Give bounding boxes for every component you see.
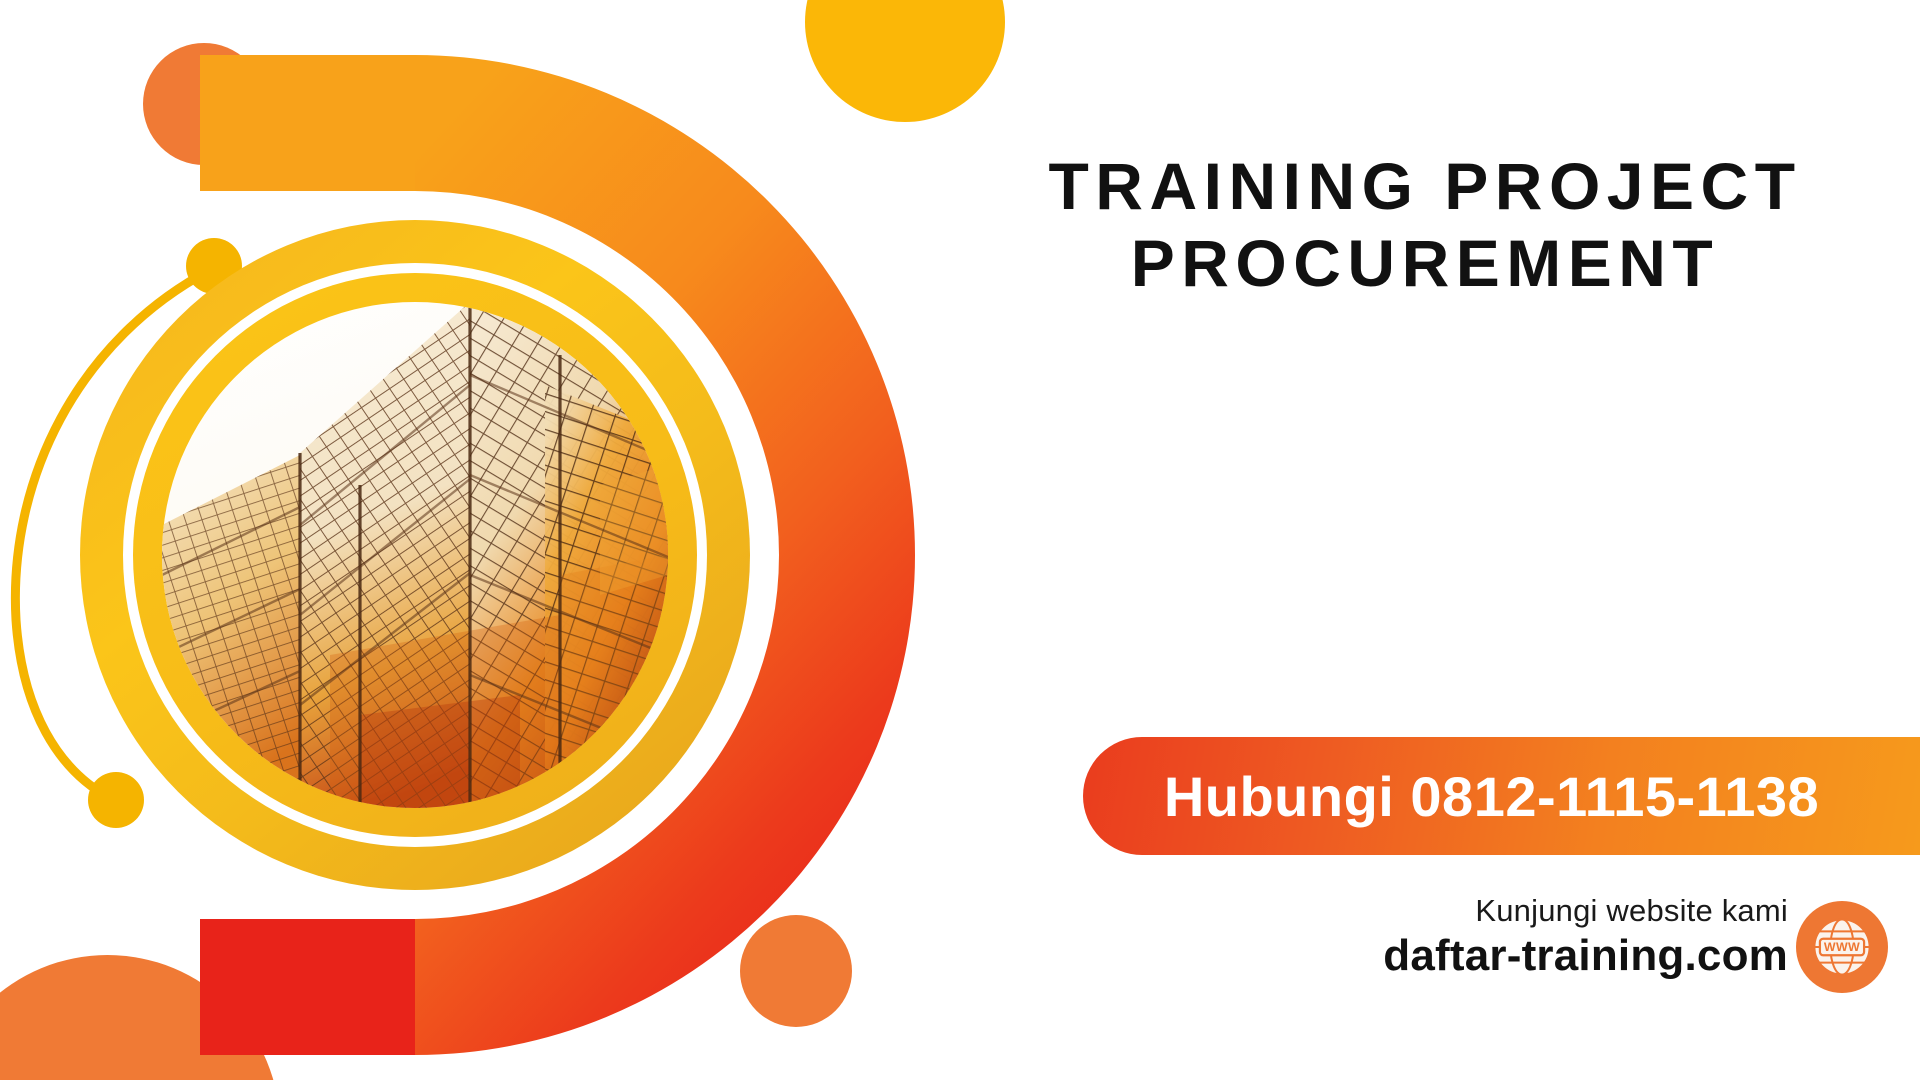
- globe-www-label: WWW: [1824, 940, 1860, 954]
- headline-line-1: TRAINING PROJECT: [930, 148, 1920, 225]
- website-block: Kunjungi website kami daftar-training.co…: [1180, 895, 1920, 1015]
- page-title: TRAINING PROJECT PROCUREMENT: [930, 148, 1920, 302]
- website-domain[interactable]: daftar-training.com: [1383, 932, 1788, 980]
- headline-line-2: PROCUREMENT: [930, 225, 1920, 302]
- contact-cta-button[interactable]: Hubungi 0812-1115-1138: [1083, 737, 1920, 855]
- circular-photo-composition: [0, 55, 930, 1055]
- contact-cta-label: Hubungi 0812-1115-1138: [1164, 764, 1819, 829]
- website-kicker: Kunjungi website kami: [1383, 895, 1788, 926]
- globe-www-icon[interactable]: WWW: [1796, 901, 1888, 993]
- poster-canvas: TRAINING PROJECT PROCUREMENT Hubungi 081…: [0, 0, 1920, 1080]
- website-text: Kunjungi website kami daftar-training.co…: [1383, 895, 1788, 980]
